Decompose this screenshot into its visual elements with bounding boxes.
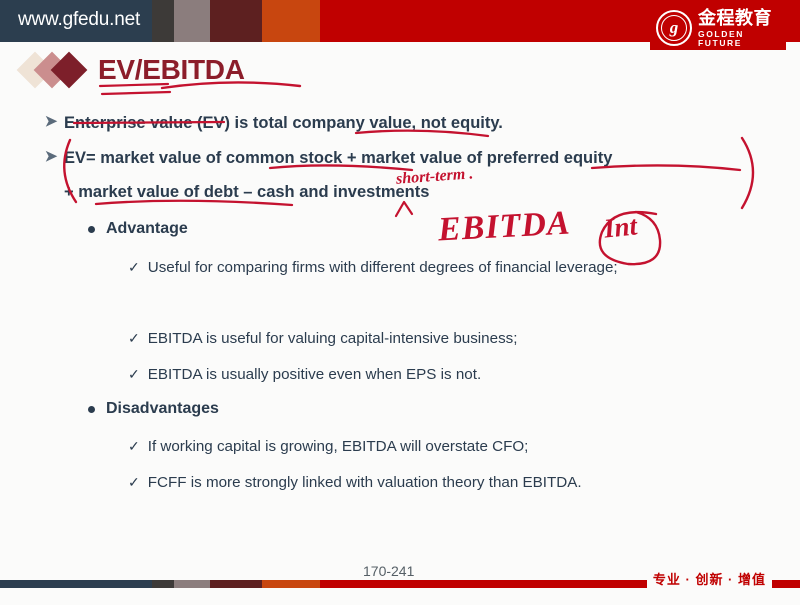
arrow-bullet-icon: ➤ [38, 112, 64, 132]
list-item: ✓ Useful for comparing firms with differ… [128, 257, 703, 279]
header-block-dark [152, 0, 174, 42]
check-icon: ✓ [128, 328, 140, 348]
page-number: 170-241 [363, 563, 414, 579]
logo-name-cn: 金程教育 [698, 9, 786, 27]
check-icon: ✓ [128, 472, 140, 492]
disadvantages-label: Disadvantages [106, 400, 219, 418]
list-item-text: EBITDA is usually positive even when EPS… [148, 364, 481, 386]
site-url-label: www.gfedu.net [18, 9, 140, 31]
footer-block-gray [174, 580, 210, 588]
list-item-text: If working capital is growing, EBITDA wi… [148, 436, 529, 458]
footer-block-navy [0, 580, 152, 588]
footer-block-orange [262, 580, 320, 588]
bullet-2-continuation: + market value of debt – cash and invest… [64, 183, 664, 202]
dot-bullet-icon [88, 406, 95, 413]
footer-block-maroon [210, 580, 262, 588]
header-block-orange [262, 0, 320, 42]
slide-canvas: www.gfedu.net g 金程教育 GOLDEN FUTURE EV/EB… [0, 0, 800, 600]
ink-strokes [0, 0, 800, 600]
section-heading-advantage: Advantage [88, 220, 188, 238]
seal-icon: g [656, 10, 692, 46]
handwriting-int: Int [602, 210, 638, 244]
check-icon: ✓ [128, 436, 140, 456]
header-block-gray [174, 0, 210, 42]
list-item: ✓ FCFF is more strongly linked with valu… [128, 472, 728, 494]
footer-block-dark [152, 580, 174, 588]
check-icon: ✓ [128, 257, 140, 277]
bullet-item-2: ➤ EV= market value of common stock + mar… [38, 147, 778, 169]
bullet-1-text: Enterprise value (EV) is total company v… [64, 112, 503, 134]
bullet-item-1: ➤ Enterprise value (EV) is total company… [38, 112, 758, 134]
bullet-2-text: EV= market value of common stock + marke… [64, 147, 612, 169]
arrow-bullet-icon: ➤ [38, 147, 64, 167]
list-item: ✓ EBITDA is useful for valuing capital-i… [128, 328, 688, 350]
seal-letter: g [656, 10, 692, 46]
diamond-decoration-icon [22, 51, 94, 89]
check-icon: ✓ [128, 364, 140, 384]
slide-title-row: EV/EBITDA [22, 50, 245, 90]
tagline-cap-right [778, 581, 800, 587]
list-item-text: FCFF is more strongly linked with valuat… [148, 472, 582, 494]
list-item: ✓ If working capital is growing, EBITDA … [128, 436, 688, 458]
page-title: EV/EBITDA [98, 54, 245, 86]
list-item: ✓ EBITDA is usually positive even when E… [128, 364, 688, 386]
advantage-label: Advantage [106, 220, 188, 238]
footer-tagline: 专业 · 创新 · 增值 [647, 569, 772, 588]
list-item-text: EBITDA is useful for valuing capital-int… [148, 328, 518, 350]
dot-bullet-icon [88, 226, 95, 233]
handwriting-ebitda: EBITDA [437, 205, 571, 250]
list-item-text: Useful for comparing firms with differen… [148, 257, 618, 279]
handwritten-annotation-layer: short-term . EBITDA Int [0, 0, 800, 600]
header-block-maroon [210, 0, 262, 42]
brand-logo: g 金程教育 GOLDEN FUTURE [650, 6, 786, 50]
section-heading-disadvantages: Disadvantages [88, 400, 219, 418]
logo-name-en: GOLDEN FUTURE [698, 30, 786, 47]
